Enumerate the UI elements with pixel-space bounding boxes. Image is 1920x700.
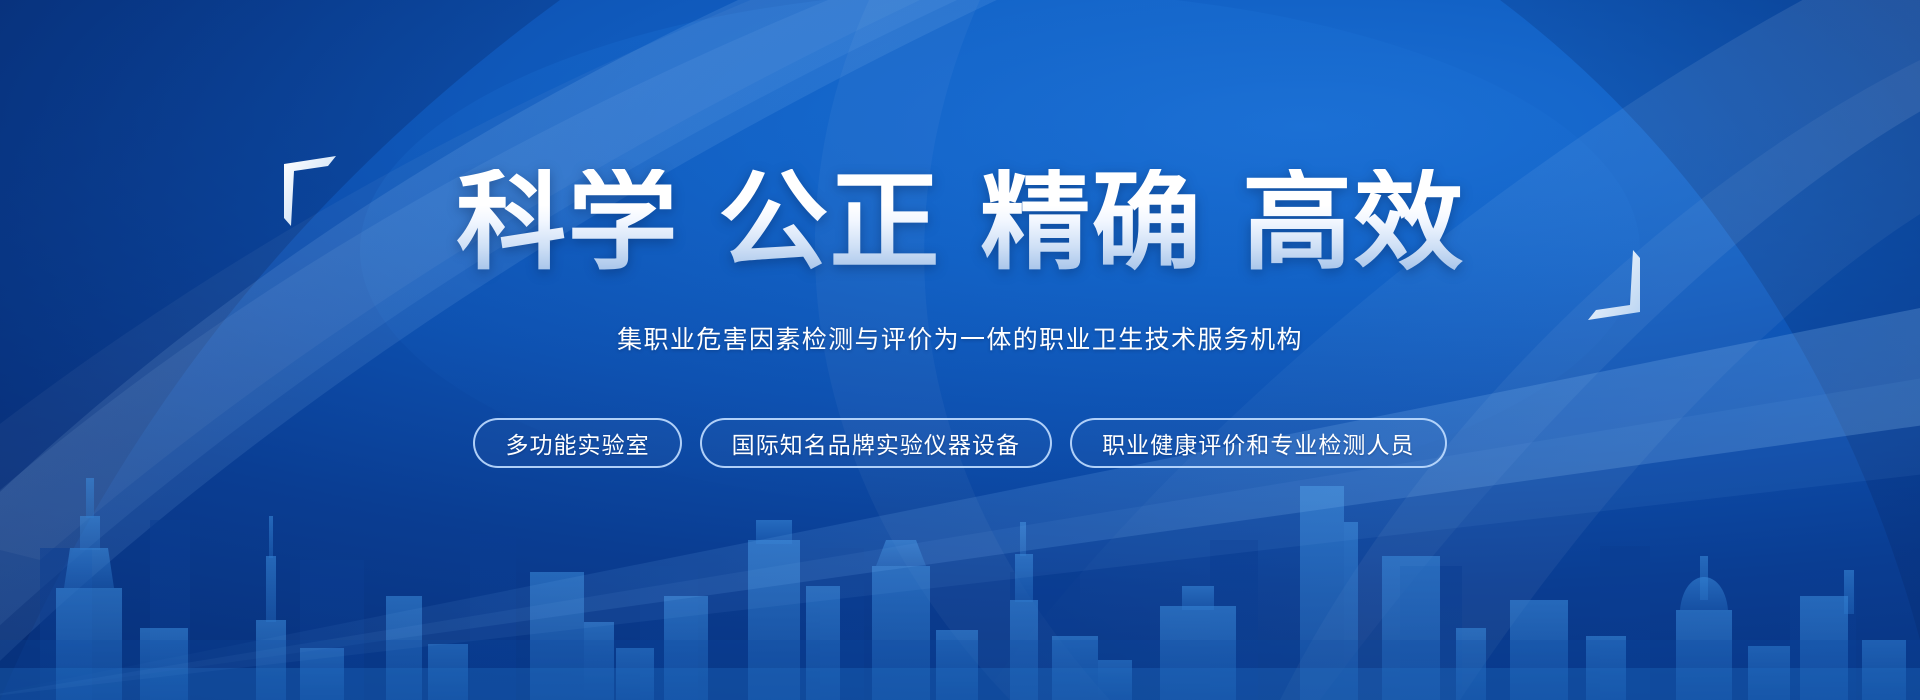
hero-banner: 科学 公正 精确 高效 集职业危害因素检测与评价为一体的职业卫生技术服务机构 多… xyxy=(0,0,1920,700)
banner-content: 科学 公正 精确 高效 集职业危害因素检测与评价为一体的职业卫生技术服务机构 多… xyxy=(0,0,1920,700)
page-subtitle: 集职业危害因素检测与评价为一体的职业卫生技术服务机构 xyxy=(617,320,1303,356)
corner-quote-close-icon xyxy=(1586,244,1646,322)
feature-pill-group: 多功能实验室 国际知名品牌实验仪器设备 职业健康评价和专业检测人员 xyxy=(473,418,1446,468)
feature-pill-lab[interactable]: 多功能实验室 xyxy=(473,418,681,468)
headline-block: 科学 公正 精确 高效 xyxy=(330,148,1590,298)
feature-pill-personnel[interactable]: 职业健康评价和专业检测人员 xyxy=(1070,418,1446,468)
page-title: 科学 公正 精确 高效 xyxy=(456,169,1464,277)
corner-quote-open-icon xyxy=(278,154,338,232)
feature-pill-equipment[interactable]: 国际知名品牌实验仪器设备 xyxy=(700,418,1052,468)
